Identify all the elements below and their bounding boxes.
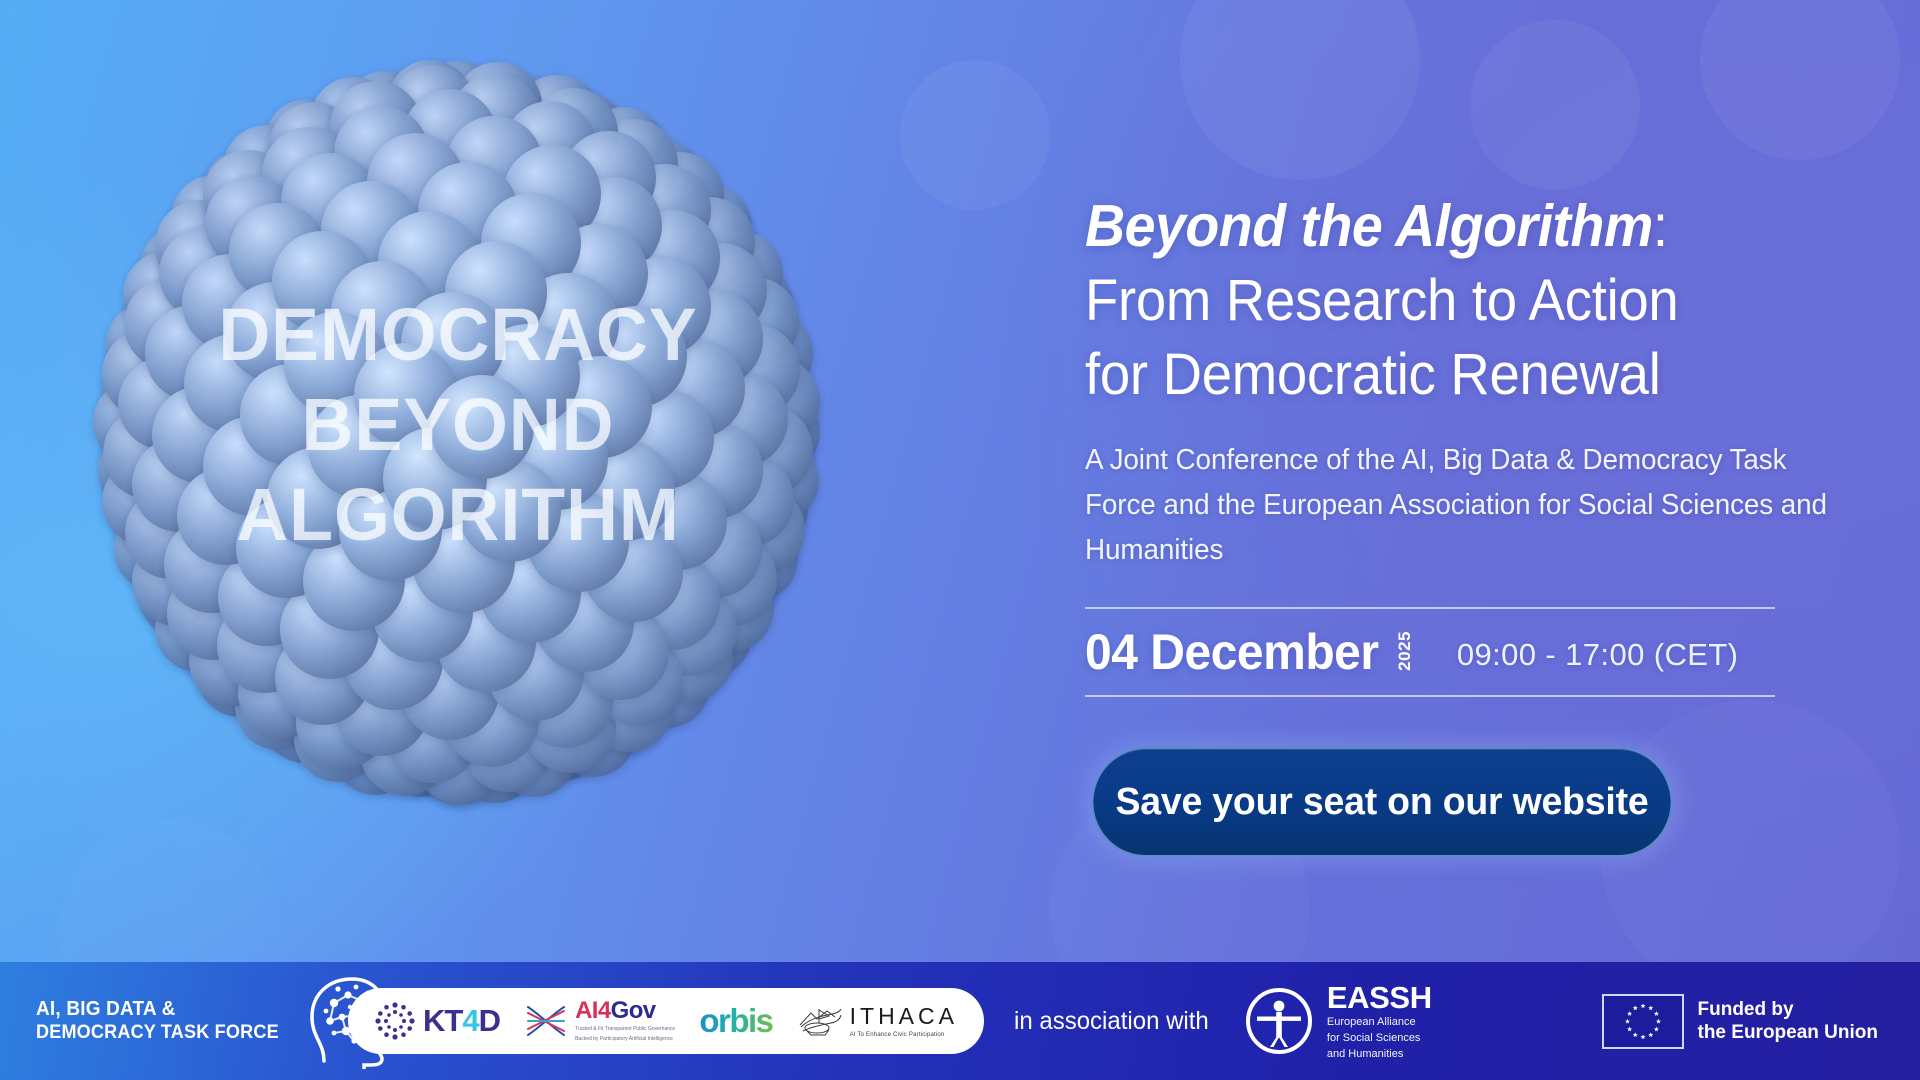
- sphere-headline: DEMOCRACY BEYOND ALGORITHM: [89, 290, 826, 560]
- title-line-1: Beyond the Algorithm:: [1085, 188, 1809, 264]
- sphere-headline-line-3: ALGORITHM: [89, 470, 826, 560]
- eu-star: [1653, 1026, 1658, 1031]
- eu-star: [1624, 1018, 1629, 1023]
- partner-logo-ai4gov: AI4Gov Trusted & Fit Transparent Public …: [524, 999, 675, 1044]
- ithaca-wordmark: ITHACA AI To Enhance Civic Participation: [850, 1005, 958, 1038]
- task-force-line-2: DEMOCRACY TASK FORCE: [36, 1021, 279, 1045]
- bokeh-circle: [1470, 20, 1640, 190]
- eu-funding-badge: Funded by the European Union: [1602, 994, 1879, 1049]
- partner-logo-kt4d: KT4D: [374, 1000, 500, 1042]
- eassh-line-2: for Social Sciences: [1327, 1032, 1432, 1045]
- eu-star: [1627, 1011, 1632, 1016]
- ai4gov-sub-1: Trusted & Fit Transparent Public Governa…: [575, 1026, 675, 1034]
- ithaca-sub: AI To Enhance Civic Participation: [850, 1032, 958, 1038]
- eu-star: [1655, 1018, 1660, 1023]
- eu-stars: [1604, 996, 1682, 1047]
- ai4gov-part-b: Gov: [611, 997, 656, 1024]
- kt4d-part-b: 4: [462, 1003, 478, 1038]
- event-day: 04: [1085, 624, 1137, 680]
- title-line-3: for Democratic Renewal: [1085, 338, 1809, 412]
- ai4gov-part-a: AI4: [575, 997, 611, 1024]
- kt4d-part-a: KT: [423, 1003, 462, 1038]
- content-panel: Beyond the Algorithm: From Research to A…: [1085, 188, 1855, 857]
- bokeh-circle: [1700, 0, 1900, 160]
- date-row: 04 December 2025 09:00 - 17:00 (CET): [1085, 609, 1775, 695]
- eu-star: [1648, 1032, 1653, 1037]
- eu-line-2: the European Union: [1698, 1021, 1879, 1044]
- event-year: 2025: [1396, 631, 1413, 671]
- ai4gov-sub-2: Backed by Participatory Artificial Intel…: [575, 1036, 675, 1044]
- eu-star: [1640, 1034, 1645, 1039]
- page-subtitle: A Joint Conference of the AI, Big Data &…: [1085, 438, 1863, 573]
- bokeh-circle: [1180, 0, 1420, 180]
- eu-star: [1653, 1011, 1658, 1016]
- eu-star: [1632, 1005, 1637, 1010]
- event-month: December: [1150, 624, 1378, 680]
- kt4d-mark-icon: [374, 1000, 416, 1042]
- eassh-text: EASSH European Alliance for Social Scien…: [1327, 982, 1432, 1061]
- eu-star: [1648, 1005, 1653, 1010]
- title-colon: :: [1653, 193, 1668, 259]
- title-line-2: From Research to Action: [1085, 264, 1809, 338]
- event-time: 09:00 - 17:00 (CET): [1457, 637, 1739, 673]
- ithaca-main: ITHACA: [850, 1005, 958, 1028]
- eu-funding-text: Funded by the European Union: [1698, 998, 1879, 1044]
- eu-star: [1640, 1003, 1645, 1008]
- orbis-wordmark: orbis: [699, 1002, 772, 1040]
- event-date: 04 December: [1085, 609, 1379, 695]
- partner-logo-orbis: orbis: [699, 1002, 772, 1040]
- eassh-logo: EASSH European Alliance for Social Scien…: [1243, 982, 1432, 1061]
- bokeh-circle: [900, 60, 1050, 210]
- page-title: Beyond the Algorithm: From Research to A…: [1085, 188, 1855, 412]
- sphere-artwork: DEMOCRACY BEYOND ALGORITHM: [78, 38, 838, 828]
- eassh-line-3: and Humanities: [1327, 1048, 1432, 1061]
- kt4d-wordmark: KT4D: [423, 1003, 500, 1039]
- partner-logo-ithaca: ITHACA AI To Enhance Civic Participation: [797, 1001, 958, 1041]
- ai4gov-main: AI4Gov: [575, 999, 675, 1023]
- association-label: in association with: [1014, 1007, 1209, 1036]
- eu-star: [1632, 1032, 1637, 1037]
- conference-poster: DEMOCRACY BEYOND ALGORITHM Beyond the Al…: [0, 0, 1920, 1080]
- title-emphasis: Beyond the Algorithm: [1085, 193, 1653, 259]
- task-force-logo-text: AI, BIG DATA & DEMOCRACY TASK FORCE: [36, 997, 279, 1045]
- save-seat-button[interactable]: Save your seat on our website: [1091, 747, 1672, 857]
- eu-star: [1627, 1026, 1632, 1031]
- task-force-logo: AI, BIG DATA & DEMOCRACY TASK FORCE: [36, 973, 336, 1069]
- eu-flag-icon: [1602, 994, 1684, 1049]
- ai4gov-mark-icon: [524, 1001, 568, 1041]
- task-force-line-1: AI, BIG DATA &: [36, 997, 279, 1021]
- footer-bar: AI, BIG DATA & DEMOCRACY TASK FORCE: [0, 962, 1920, 1080]
- eu-line-1: Funded by: [1698, 998, 1879, 1021]
- divider-bottom: [1085, 695, 1775, 697]
- eassh-line-1: European Alliance: [1327, 1016, 1432, 1029]
- eassh-acronym: EASSH: [1327, 982, 1432, 1013]
- sphere-headline-line-1: DEMOCRACY: [89, 290, 826, 380]
- kt4d-part-c: D: [479, 1003, 500, 1038]
- ai4gov-wordmark: AI4Gov Trusted & Fit Transparent Public …: [575, 999, 675, 1044]
- partner-logo-pill: KT4D AI4Gov Trusted & Fit Transparent Pu…: [348, 988, 984, 1054]
- ithaca-boat-icon: [797, 1001, 843, 1041]
- vitruvian-man-icon: [1243, 985, 1315, 1057]
- sphere-headline-line-2: BEYOND: [89, 380, 826, 470]
